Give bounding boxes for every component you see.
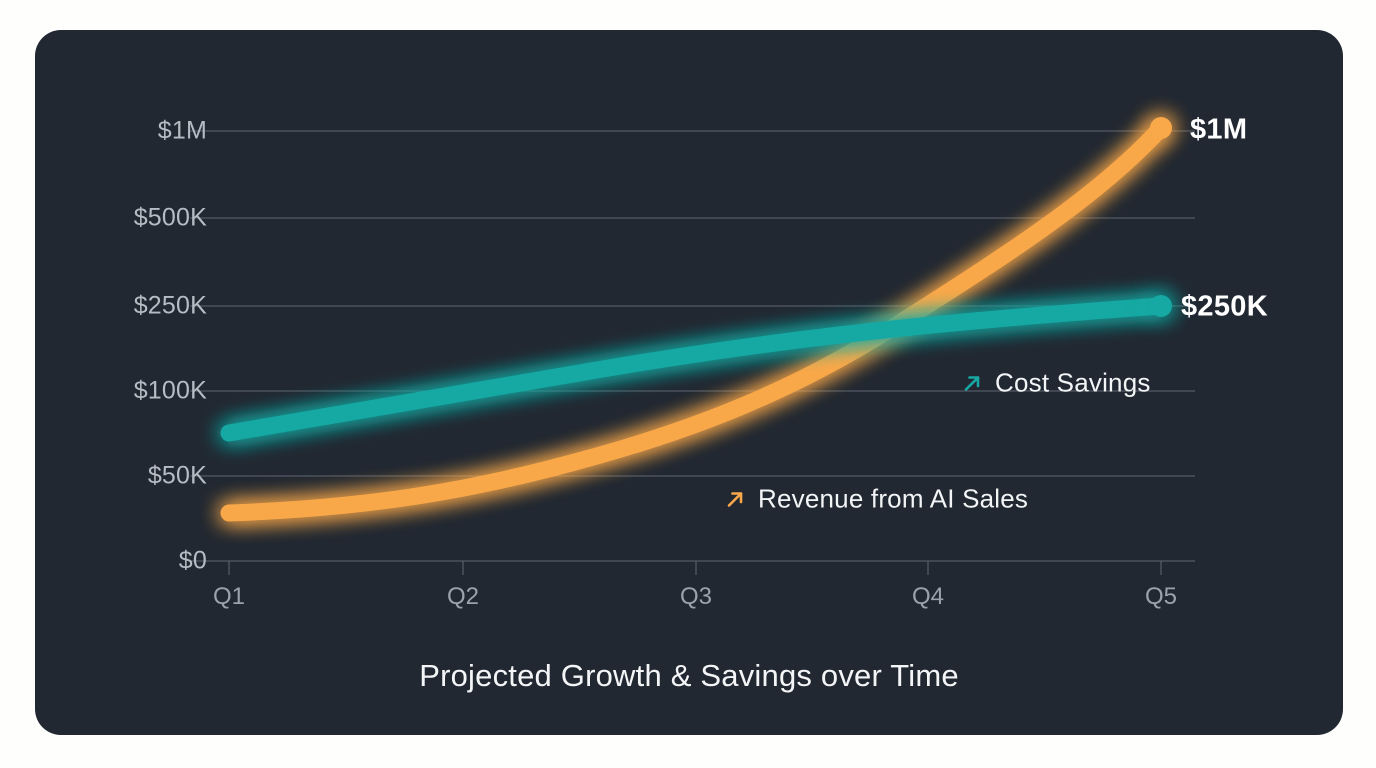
legend-label-cost-savings: Cost Savings	[995, 368, 1151, 399]
x-axis-label-q5: Q5	[1145, 583, 1177, 611]
y-axis-label-100k: $100K	[55, 377, 207, 406]
chart-title: Projected Growth & Savings over Time	[35, 658, 1343, 694]
chart-card: $1M $500K $250K $100K $50K $0 Q1 Q2 Q3 Q…	[35, 30, 1343, 735]
gridlines	[190, 131, 1195, 561]
x-axis-label-q2: Q2	[447, 583, 479, 611]
arrow-up-right-icon	[723, 487, 747, 511]
legend-item-cost-savings[interactable]: Cost Savings	[960, 368, 1151, 399]
endpoint-value-revenue: $1M	[1190, 114, 1247, 147]
x-axis-label-q1: Q1	[213, 583, 245, 611]
chart-page: $1M $500K $250K $100K $50K $0 Q1 Q2 Q3 Q…	[0, 0, 1376, 768]
arrow-up-right-icon	[960, 371, 984, 395]
y-axis-label-50k: $50K	[55, 462, 207, 491]
legend-label-revenue-from-ai-sales: Revenue from AI Sales	[758, 484, 1028, 515]
y-axis-label-500k: $500K	[55, 204, 207, 233]
x-axis-ticks	[229, 561, 1161, 575]
y-axis-label-1m: $1M	[55, 117, 207, 146]
x-axis-label-q3: Q3	[680, 583, 712, 611]
y-axis-label-0: $0	[55, 547, 207, 576]
legend-item-revenue-from-ai-sales[interactable]: Revenue from AI Sales	[723, 484, 1028, 515]
y-axis-label-250k: $250K	[55, 292, 207, 321]
endpoint-value-cost-savings: $250K	[1181, 291, 1268, 324]
endpoint-marker-revenue	[1150, 117, 1172, 139]
endpoint-marker-cost-savings	[1150, 295, 1172, 317]
x-axis-label-q4: Q4	[912, 583, 944, 611]
